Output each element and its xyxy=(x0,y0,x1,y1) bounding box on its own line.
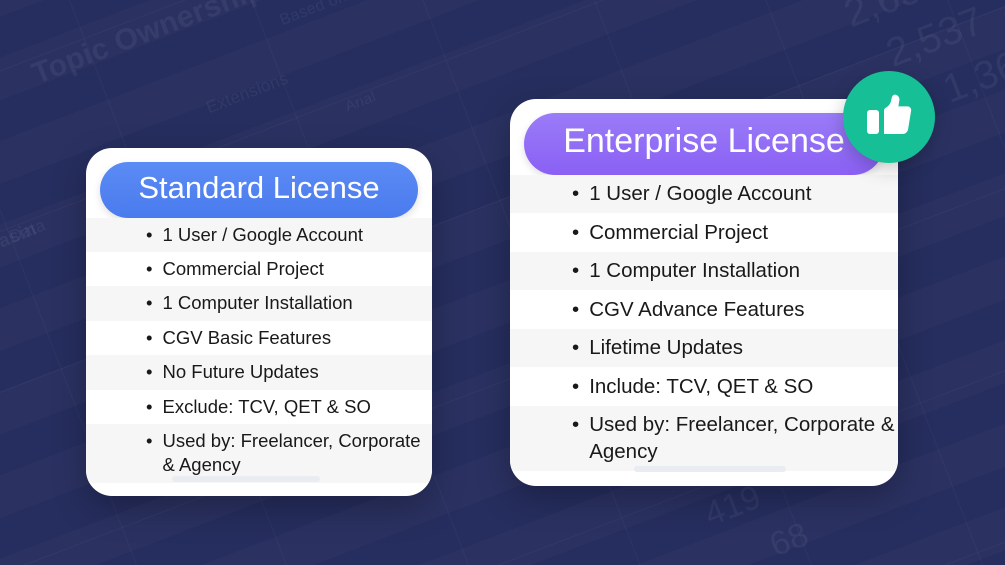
feature-item: •Commercial Project xyxy=(510,213,898,251)
bullet-icon: • xyxy=(146,291,152,315)
watermark-number: 419 xyxy=(699,478,766,535)
watermark-number: 1,360 xyxy=(937,35,1005,113)
card-scroll-indicator[interactable] xyxy=(172,476,320,482)
bullet-icon: • xyxy=(572,296,579,323)
bullet-icon: • xyxy=(146,360,152,384)
feature-label: Include: TCV, QET & SO xyxy=(589,373,898,400)
bullet-icon: • xyxy=(572,373,579,400)
watermark-number: 2,537 xyxy=(880,0,990,77)
feature-item: •CGV Basic Features xyxy=(86,321,432,355)
bullet-icon: • xyxy=(572,180,579,207)
bullet-icon: • xyxy=(572,257,579,284)
feature-label: CGV Basic Features xyxy=(162,326,432,350)
bullet-icon: • xyxy=(572,334,579,361)
feature-label: Lifetime Updates xyxy=(589,334,898,361)
feature-item: •1 User / Google Account xyxy=(86,218,432,252)
bullet-icon: • xyxy=(572,219,579,246)
feature-item: •Commercial Project xyxy=(86,252,432,286)
feature-item: •1 Computer Installation xyxy=(510,252,898,290)
feature-label: 1 Computer Installation xyxy=(589,257,898,284)
watermark-column-line xyxy=(926,0,1005,565)
feature-item: •CGV Advance Features xyxy=(510,290,898,328)
watermark-text: Based on Topic Ideas xyxy=(278,0,433,30)
watermark-number: 2,656 xyxy=(838,0,948,37)
card-header-area: Standard License xyxy=(86,148,432,218)
watermark-text: Topic Ownership & Reach E xyxy=(28,0,419,92)
feature-item: •1 Computer Installation xyxy=(86,286,432,320)
feature-label: 1 User / Google Account xyxy=(589,180,898,207)
thumbs-up-badge xyxy=(843,71,935,163)
feature-item: •Include: TCV, QET & SO xyxy=(510,367,898,405)
feature-label: 1 User / Google Account xyxy=(162,223,432,247)
enterprise-feature-list: •1 User / Google Account•Commercial Proj… xyxy=(510,175,898,472)
watermark-number: 68 xyxy=(765,515,814,565)
feature-item: •Exclude: TCV, QET & SO xyxy=(86,390,432,424)
bullet-icon: • xyxy=(146,429,152,478)
watermark-text: Validator by Alif Nuryasin xyxy=(0,219,40,325)
feature-label: CGV Advance Features xyxy=(589,296,898,323)
feature-label: Exclude: TCV, QET & SO xyxy=(162,395,432,419)
card-standard-license[interactable]: Standard License •1 User / Google Accoun… xyxy=(86,148,432,496)
bullet-icon: • xyxy=(146,395,152,419)
feature-label: 1 Computer Installation xyxy=(162,291,432,315)
standard-feature-list: •1 User / Google Account•Commercial Proj… xyxy=(86,218,432,483)
feature-label: Commercial Project xyxy=(162,257,432,281)
feature-item: •No Future Updates xyxy=(86,355,432,389)
feature-label: No Future Updates xyxy=(162,360,432,384)
feature-label: Used by: Freelancer, Corporate & Agency xyxy=(589,411,898,466)
watermark-row-band xyxy=(0,510,1005,565)
watermark-number: 4,669 xyxy=(998,69,1005,147)
watermark-text: Arial xyxy=(343,88,379,115)
feature-item: •Used by: Freelancer, Corporate & Agency xyxy=(510,406,898,472)
feature-item: •Used by: Freelancer, Corporate & Agency xyxy=(86,424,432,483)
feature-item: •Lifetime Updates xyxy=(510,329,898,367)
license-comparison-graphic: Validator by Alif NuryasinExtensionsTool… xyxy=(0,0,1005,565)
bullet-icon: • xyxy=(146,257,152,281)
card-header-area: Enterprise License xyxy=(510,99,898,175)
bullet-icon: • xyxy=(146,326,152,350)
bullet-icon: • xyxy=(572,411,579,466)
feature-item: •1 User / Google Account xyxy=(510,175,898,213)
watermark-text: Data xyxy=(7,215,49,247)
standard-license-title: Standard License xyxy=(100,162,418,218)
watermark-text: Extensions xyxy=(204,69,292,119)
card-enterprise-license[interactable]: Enterprise License •1 User / Google Acco… xyxy=(510,99,898,486)
thumbs-up-icon xyxy=(863,91,915,143)
watermark-row-line xyxy=(0,516,1005,565)
card-scroll-indicator[interactable] xyxy=(634,466,786,472)
bullet-icon: • xyxy=(146,223,152,247)
enterprise-license-title: Enterprise License xyxy=(524,113,884,175)
feature-label: Commercial Project xyxy=(589,219,898,246)
feature-label: Used by: Freelancer, Corporate & Agency xyxy=(162,429,432,478)
